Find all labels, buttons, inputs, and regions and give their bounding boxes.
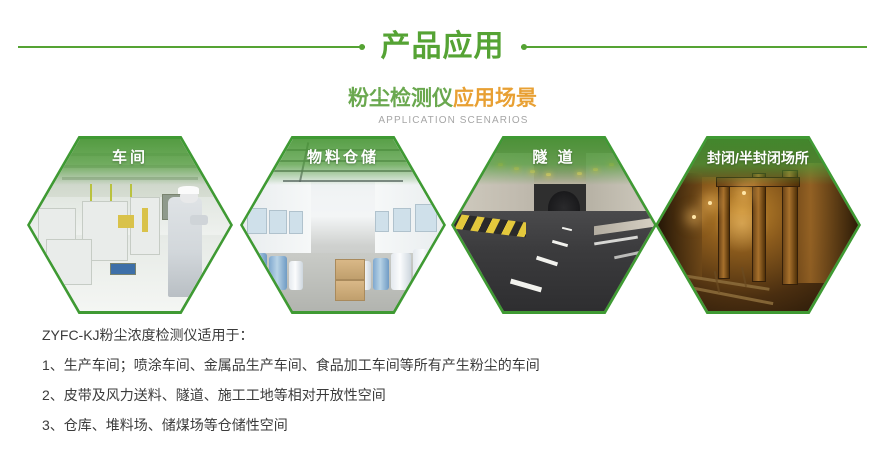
subtitle-main: 粉尘检测仪应用场景 [0,86,885,112]
scenario-label-tunnel: 隧 道 [454,147,654,169]
scenario-hex-inner: 隧 道 [454,139,654,311]
subtitle-scenario: 应用场景 [453,87,537,110]
copy-item-2: 2、皮带及风力送料、隧道、施工工地等相对开放性空间 [42,380,852,410]
scenario-label-workshop: 车间 [30,147,230,169]
copy-item-3: 3、仓库、堆料场、储煤场等仓储性空间 [42,410,852,440]
scenario-hex-mine[interactable]: 封闭/半封闭场所 [655,136,861,314]
subtitle-product: 粉尘检测仪 [348,87,453,110]
scenario-hex-inner: 车间 [30,139,230,311]
application-copy: ZYFC-KJ粉尘浓度检测仪适用于： 1、生产车间；喷涂车间、金属品生产车间、食… [42,320,852,440]
scenario-label-mine: 封闭/半封闭场所 [658,147,858,169]
header-rule-right [521,46,868,48]
header-rule-left [18,46,365,48]
scenario-hex-inner: 物料仓储 [243,139,443,311]
scenario-hexagon-row: 车间 [0,136,885,316]
subtitle-english: APPLICATION SCENARIOS [0,114,885,128]
scenario-hex-inner: 封闭/半封闭场所 [658,139,858,311]
scenario-hex-tunnel[interactable]: 隧 道 [451,136,657,314]
copy-item-1: 1、生产车间；喷涂车间、金属品生产车间、食品加工车间等所有产生粉尘的车间 [42,350,852,380]
page-header: 产品应用 [0,18,885,76]
scenario-label-warehouse: 物料仓储 [243,147,443,169]
scenario-hex-warehouse[interactable]: 物料仓储 [240,136,446,314]
copy-intro: ZYFC-KJ粉尘浓度检测仪适用于： [42,320,852,350]
scenario-hex-workshop[interactable]: 车间 [27,136,233,314]
page-title: 产品应用 [365,32,521,62]
subtitle-block: 粉尘检测仪应用场景 APPLICATION SCENARIOS [0,86,885,128]
